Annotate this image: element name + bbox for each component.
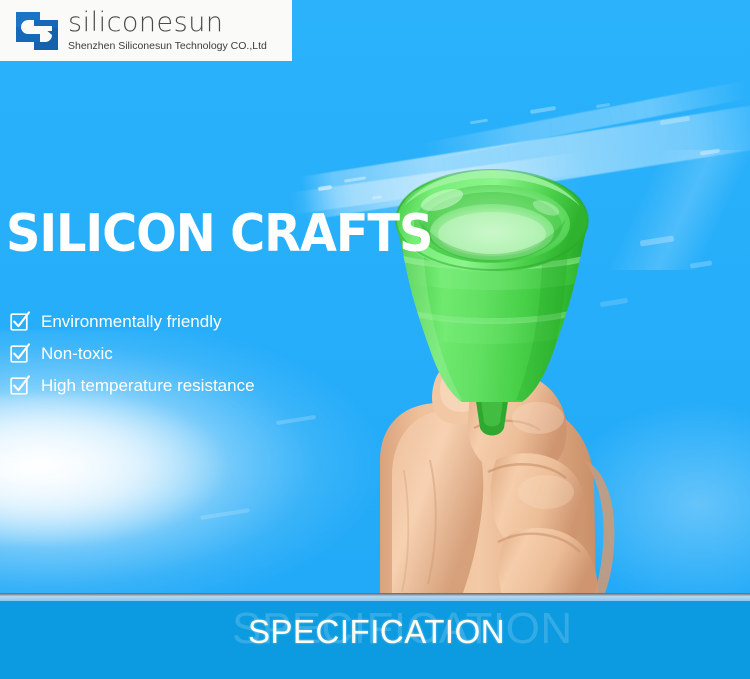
feature-label: Non-toxic bbox=[41, 345, 113, 362]
feature-label: Environmentally friendly bbox=[41, 313, 221, 330]
feature-list: Environmentally friendly Non-toxic High … bbox=[10, 310, 255, 396]
checkbox-checked-icon bbox=[10, 375, 30, 395]
page-title: SILICON CRAFTS bbox=[6, 208, 432, 260]
background-glow-left-core bbox=[0, 395, 270, 545]
brand-logo-panel: siliconesun Shenzhen Siliconesun Technol… bbox=[0, 0, 292, 61]
specification-band: SPECIFICATION SPECIFICATION bbox=[0, 601, 750, 679]
list-item: Non-toxic bbox=[10, 342, 255, 364]
brand-tagline: Shenzhen Siliconesun Technology CO.,Ltd bbox=[68, 41, 267, 52]
siliconesun-s-mark-icon bbox=[14, 10, 60, 52]
list-item: High temperature resistance bbox=[10, 374, 255, 396]
feature-label: High temperature resistance bbox=[41, 377, 255, 394]
specification-title: SPECIFICATION bbox=[248, 615, 505, 648]
product-banner: siliconesun Shenzhen Siliconesun Technol… bbox=[0, 0, 750, 679]
brand-text-block: siliconesun Shenzhen Siliconesun Technol… bbox=[68, 9, 267, 52]
list-item: Environmentally friendly bbox=[10, 310, 255, 332]
checkbox-checked-icon bbox=[10, 343, 30, 363]
checkbox-checked-icon bbox=[10, 311, 30, 331]
brand-wordmark: siliconesun bbox=[68, 9, 267, 36]
